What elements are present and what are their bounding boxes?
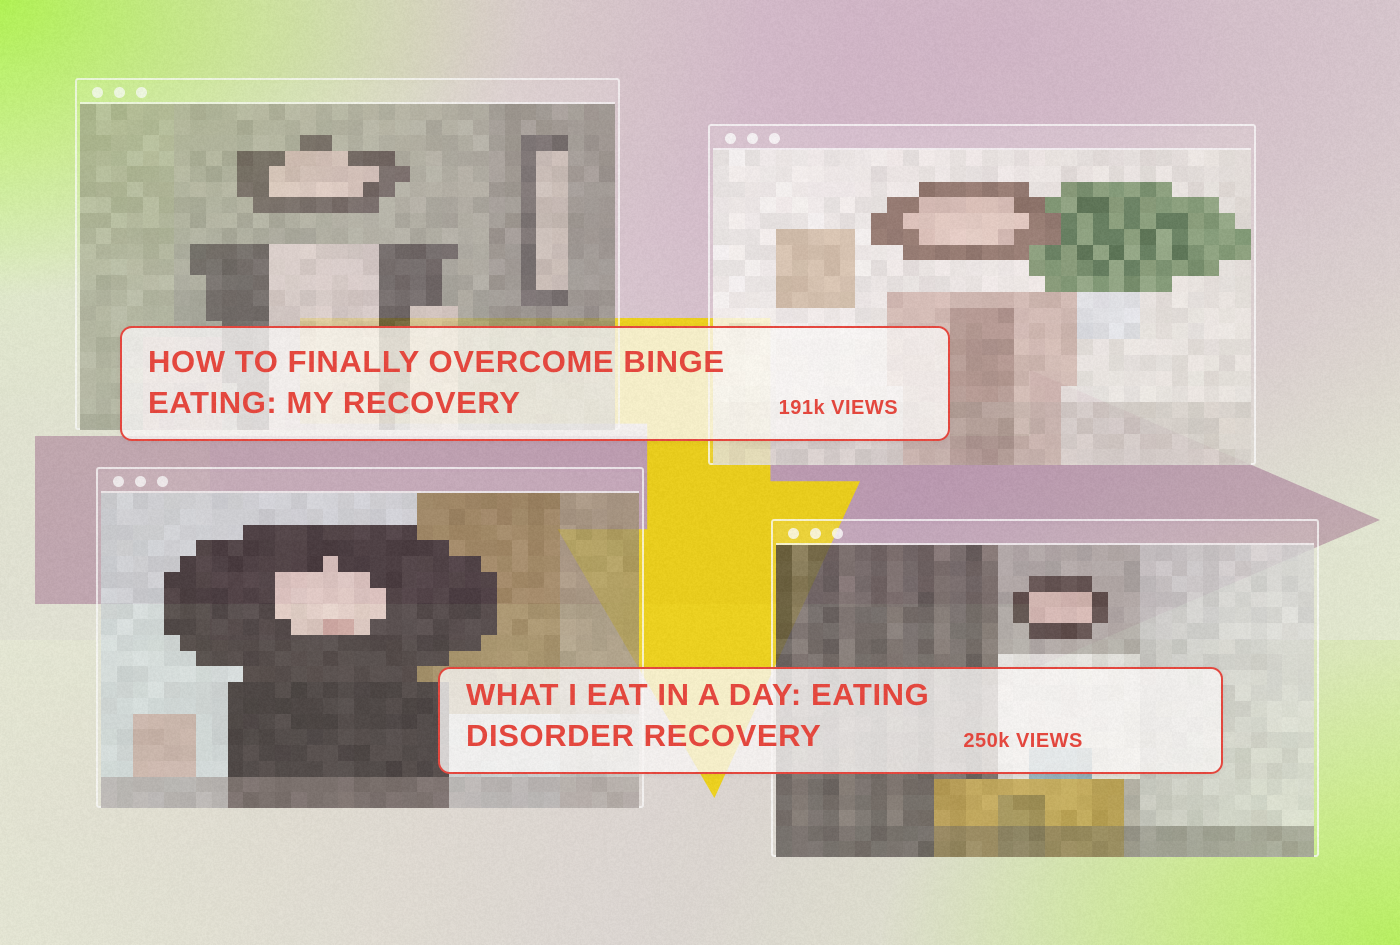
window-dot-close-icon[interactable] (113, 476, 124, 487)
window-dot-minimize-icon[interactable] (114, 87, 125, 98)
window-dot-minimize-icon[interactable] (810, 528, 821, 539)
view-count-1: 191k VIEWS (779, 397, 899, 423)
window-title-bar[interactable] (80, 83, 615, 104)
window-dot-maximize-icon[interactable] (136, 87, 147, 98)
video-title-2: WHAT I EAT IN A DAY: EATING DISORDER REC… (466, 675, 929, 756)
view-count-2: 250k VIEWS (963, 730, 1083, 756)
window-title-bar[interactable] (101, 472, 639, 493)
window-dot-close-icon[interactable] (788, 528, 799, 539)
window-dot-minimize-icon[interactable] (747, 133, 758, 144)
composition-canvas: HOW TO FINALLY OVERCOME BINGE EATING: MY… (0, 0, 1400, 945)
video-caption-card-1[interactable]: HOW TO FINALLY OVERCOME BINGE EATING: MY… (120, 326, 950, 441)
window-dot-close-icon[interactable] (725, 133, 736, 144)
window-dot-minimize-icon[interactable] (135, 476, 146, 487)
window-title-bar[interactable] (776, 524, 1314, 545)
video-title-1: HOW TO FINALLY OVERCOME BINGE EATING: MY… (148, 342, 725, 423)
video-caption-card-2[interactable]: WHAT I EAT IN A DAY: EATING DISORDER REC… (438, 667, 1223, 774)
window-dot-maximize-icon[interactable] (832, 528, 843, 539)
window-dot-maximize-icon[interactable] (769, 133, 780, 144)
window-title-bar[interactable] (713, 129, 1251, 150)
window-dot-close-icon[interactable] (92, 87, 103, 98)
window-dot-maximize-icon[interactable] (157, 476, 168, 487)
